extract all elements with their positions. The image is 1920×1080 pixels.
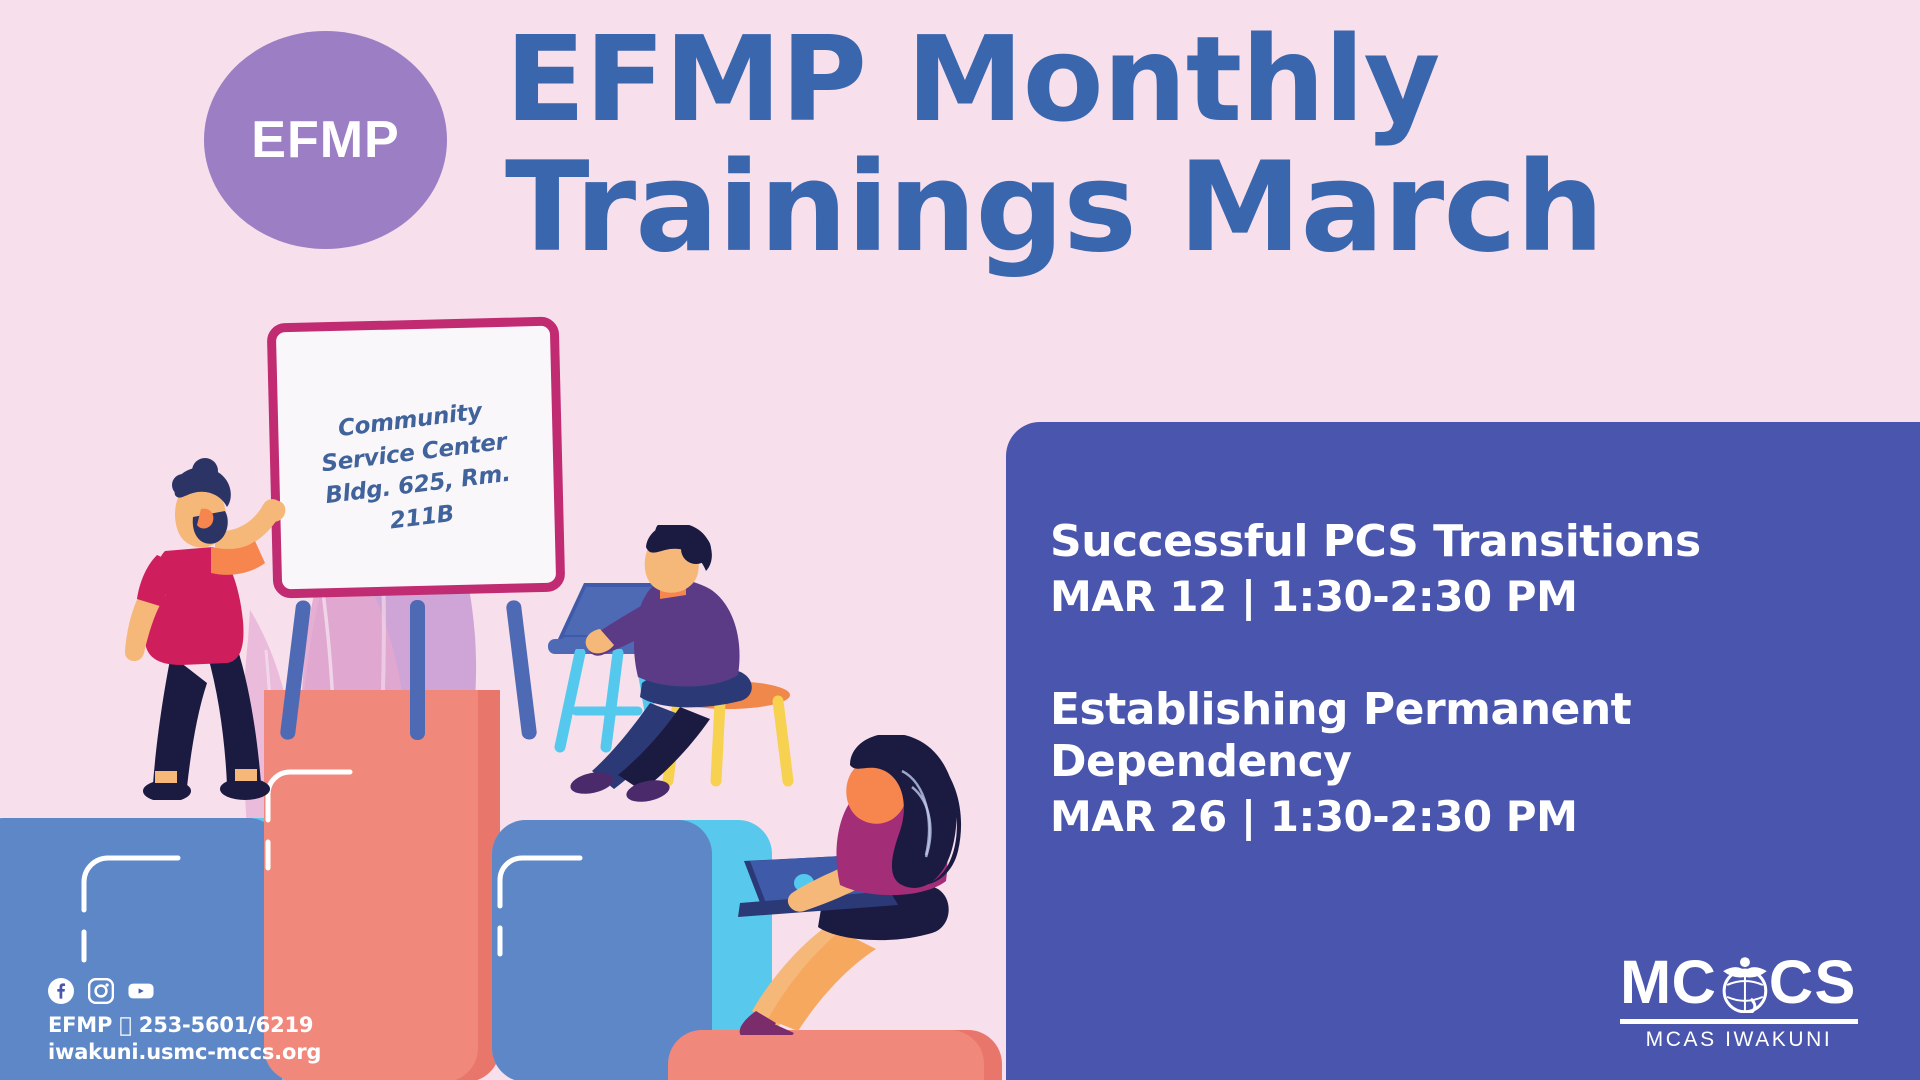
contact-website[interactable]: iwakuni.usmc-mccs.org bbox=[48, 1039, 321, 1066]
svg-text:C: C bbox=[1672, 951, 1715, 1013]
mccs-logo: M C C S MCAS IWAKUNI bbox=[1620, 951, 1858, 1052]
session-item: Establishing Permanent Dependency MAR 26… bbox=[1050, 684, 1880, 842]
efmp-badge-label: EFMP bbox=[251, 110, 399, 170]
sessions-panel: Successful PCS Transitions MAR 12 | 1:30… bbox=[1006, 422, 1920, 1080]
facebook-icon[interactable] bbox=[48, 978, 74, 1004]
session-title: Successful PCS Transitions bbox=[1050, 516, 1880, 568]
social-links bbox=[48, 978, 321, 1004]
svg-text:C: C bbox=[1769, 951, 1812, 1013]
efmp-badge: EFMP bbox=[204, 31, 447, 249]
session-item: Successful PCS Transitions MAR 12 | 1:30… bbox=[1050, 516, 1880, 622]
mccs-wordmark: M C C S bbox=[1620, 951, 1858, 1013]
mccs-subtitle: MCAS IWAKUNI bbox=[1620, 1028, 1858, 1052]
title-line-2: Trainings March bbox=[505, 148, 1705, 268]
woman-with-laptop-figure bbox=[720, 735, 1000, 1035]
poster-canvas: Community Service Center Bldg. 625, Rm. … bbox=[0, 0, 1920, 1080]
eagle-globe-anchor-icon bbox=[1723, 957, 1767, 1013]
contact-block: EFMP  253-5601/6219 iwakuni.usmc-mccs.o… bbox=[48, 978, 321, 1067]
youtube-icon[interactable] bbox=[128, 978, 154, 1004]
contact-phone: EFMP  253-5601/6219 bbox=[48, 1012, 321, 1039]
title-line-1: EFMP Monthly bbox=[505, 22, 1705, 136]
svg-text:M: M bbox=[1620, 951, 1670, 1013]
presenter-figure bbox=[95, 455, 315, 800]
page-title: EFMP Monthly Trainings March bbox=[505, 22, 1705, 269]
mccs-divider bbox=[1620, 1019, 1858, 1024]
session-datetime: MAR 26 | 1:30-2:30 PM bbox=[1050, 792, 1880, 842]
session-datetime: MAR 12 | 1:30-2:30 PM bbox=[1050, 572, 1880, 622]
mccs-wordmark-svg: M C C S bbox=[1620, 951, 1858, 1013]
instagram-icon[interactable] bbox=[88, 978, 114, 1004]
session-title: Establishing Permanent Dependency bbox=[1050, 684, 1880, 788]
svg-text:S: S bbox=[1814, 951, 1854, 1013]
